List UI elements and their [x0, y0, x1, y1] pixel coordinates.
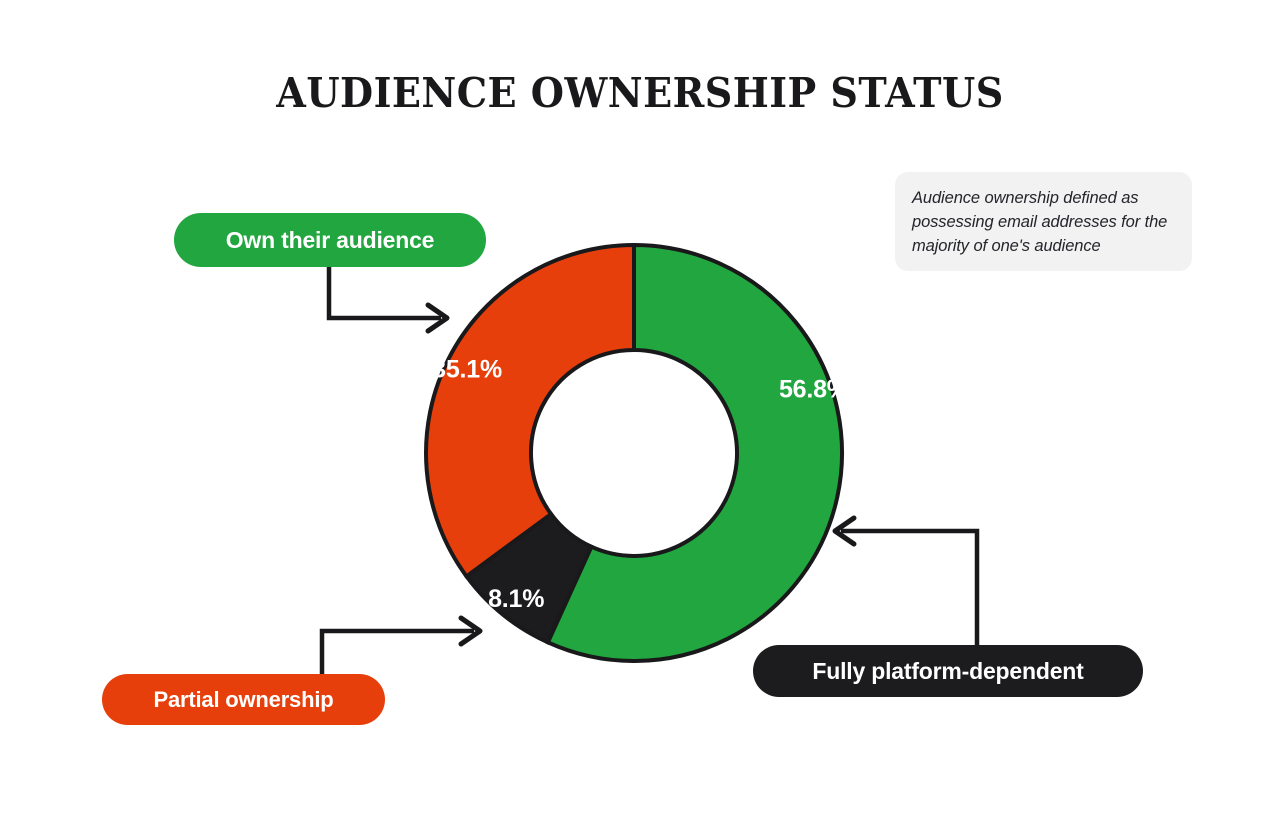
arrow-line-partial [322, 631, 474, 678]
legend-pill-partial[interactable]: Partial ownership [102, 674, 385, 725]
legend-pill-own-label: Own their audience [226, 227, 435, 254]
legend-pill-platform[interactable]: Fully platform-dependent [753, 645, 1143, 697]
slice-value-platform: 8.1% [488, 585, 544, 613]
legend-pill-partial-label: Partial ownership [154, 687, 334, 713]
arrow-line-platform [841, 531, 977, 648]
slice-value-partial: 35.1% [432, 356, 502, 384]
donut-slice-partial[interactable] [426, 245, 634, 576]
legend-pill-platform-label: Fully platform-dependent [812, 658, 1083, 685]
slice-value-own: 56.8% [779, 375, 849, 403]
arrow-line-own [329, 262, 441, 318]
legend-pill-own[interactable]: Own their audience [174, 213, 486, 267]
